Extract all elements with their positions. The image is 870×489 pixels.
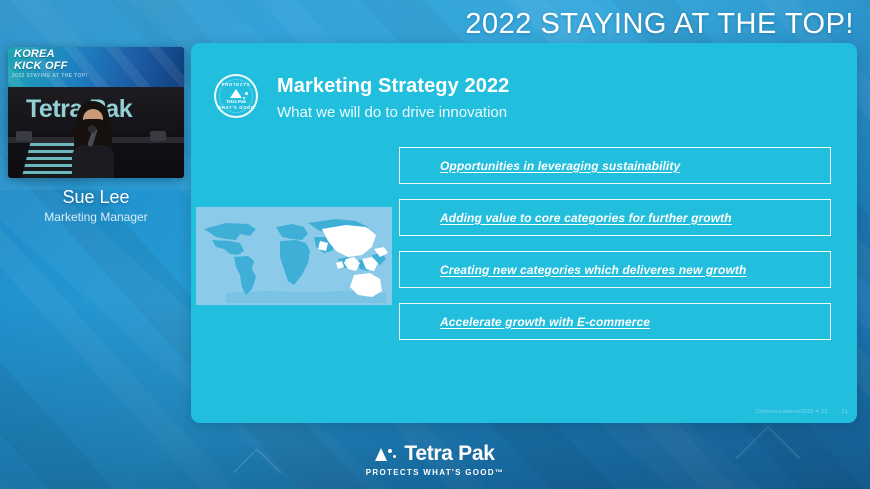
seal-triangle-icon bbox=[230, 89, 242, 98]
stage-box-right bbox=[150, 131, 166, 141]
slide-footnote: Communications/2022-4-22 bbox=[755, 409, 827, 415]
bullet-label-1: Opportunities in leveraging sustainabili… bbox=[440, 159, 680, 173]
video-stage-scene: Tetra Pak bbox=[8, 87, 184, 178]
slide-stage: 2022 STAYING AT THE TOP! KOREAKICK OFF 2… bbox=[0, 0, 870, 489]
figure-body bbox=[72, 145, 114, 178]
bullet-box-2[interactable]: Adding value to core categories for furt… bbox=[399, 199, 831, 236]
microphone-head-icon bbox=[88, 125, 96, 133]
presenter-video-tile[interactable]: KOREAKICK OFF 2022 STAYING AT THE TOP! T… bbox=[8, 47, 184, 178]
logo-triangle-icon bbox=[375, 448, 387, 461]
footer-tagline: PROTECTS WHAT'S GOOD™ bbox=[366, 468, 504, 477]
bullet-box-4[interactable]: Accelerate growth with E-commerce bbox=[399, 303, 831, 340]
slide-title: Marketing Strategy 2022 bbox=[277, 75, 509, 98]
page-title: 2022 STAYING AT THE TOP! bbox=[465, 8, 854, 41]
logo-dot-2 bbox=[393, 455, 396, 458]
video-banner-subtitle: 2022 STAYING AT THE TOP! bbox=[12, 73, 88, 79]
slide-header: PROTECTS WHAT'S GOOD Tetra Pak Marketing… bbox=[214, 74, 509, 121]
seal-brand-label: Tetra Pak bbox=[226, 99, 246, 104]
world-map-image bbox=[196, 207, 392, 305]
bullet-box-3[interactable]: Creating new categories which deliveres … bbox=[399, 251, 831, 288]
tetra-pak-mark-icon bbox=[375, 446, 397, 462]
video-banner-title: KOREAKICK OFF bbox=[14, 49, 68, 72]
tetra-pak-logo: Tetra Pak bbox=[375, 442, 494, 466]
bullet-label-3: Creating new categories which deliveres … bbox=[440, 263, 746, 277]
slide-subtitle: What we will do to drive innovation bbox=[277, 104, 509, 121]
video-banner-title-line1: KOREA bbox=[14, 48, 55, 60]
slide-title-group: Marketing Strategy 2022 What we will do … bbox=[277, 74, 509, 121]
presenter-panel: KOREAKICK OFF 2022 STAYING AT THE TOP! T… bbox=[8, 47, 184, 224]
video-banner-title-line2: KICK OFF bbox=[14, 60, 68, 72]
strategy-bullets-list: Opportunities in leveraging sustainabili… bbox=[399, 147, 831, 340]
video-banner: KOREAKICK OFF 2022 STAYING AT THE TOP! bbox=[8, 47, 184, 87]
bullet-label-2: Adding value to core categories for furt… bbox=[440, 211, 732, 225]
stage-box-left bbox=[16, 131, 32, 141]
slide-page-number: 21 bbox=[841, 409, 848, 415]
bullet-label-4: Accelerate growth with E-commerce bbox=[440, 315, 650, 329]
presenter-role: Marketing Manager bbox=[8, 210, 184, 224]
footer-brand-name: Tetra Pak bbox=[404, 442, 494, 466]
presenter-figure bbox=[70, 101, 116, 178]
logo-dot-1 bbox=[388, 449, 392, 453]
bullet-box-1[interactable]: Opportunities in leveraging sustainabili… bbox=[399, 147, 831, 184]
seal-arc-bottom: WHAT'S GOOD bbox=[216, 105, 256, 110]
footer-brand: Tetra Pak PROTECTS WHAT'S GOOD™ bbox=[0, 442, 870, 477]
world-map-svg bbox=[196, 207, 392, 305]
presenter-name: Sue Lee bbox=[8, 187, 184, 208]
slide-footnote-row: Communications/2022-4-22 21 bbox=[755, 409, 848, 415]
seal-core: Tetra Pak bbox=[223, 87, 249, 105]
slide-card: PROTECTS WHAT'S GOOD Tetra Pak Marketing… bbox=[191, 43, 857, 423]
tetra-pak-seal-icon: PROTECTS WHAT'S GOOD Tetra Pak bbox=[214, 74, 258, 118]
